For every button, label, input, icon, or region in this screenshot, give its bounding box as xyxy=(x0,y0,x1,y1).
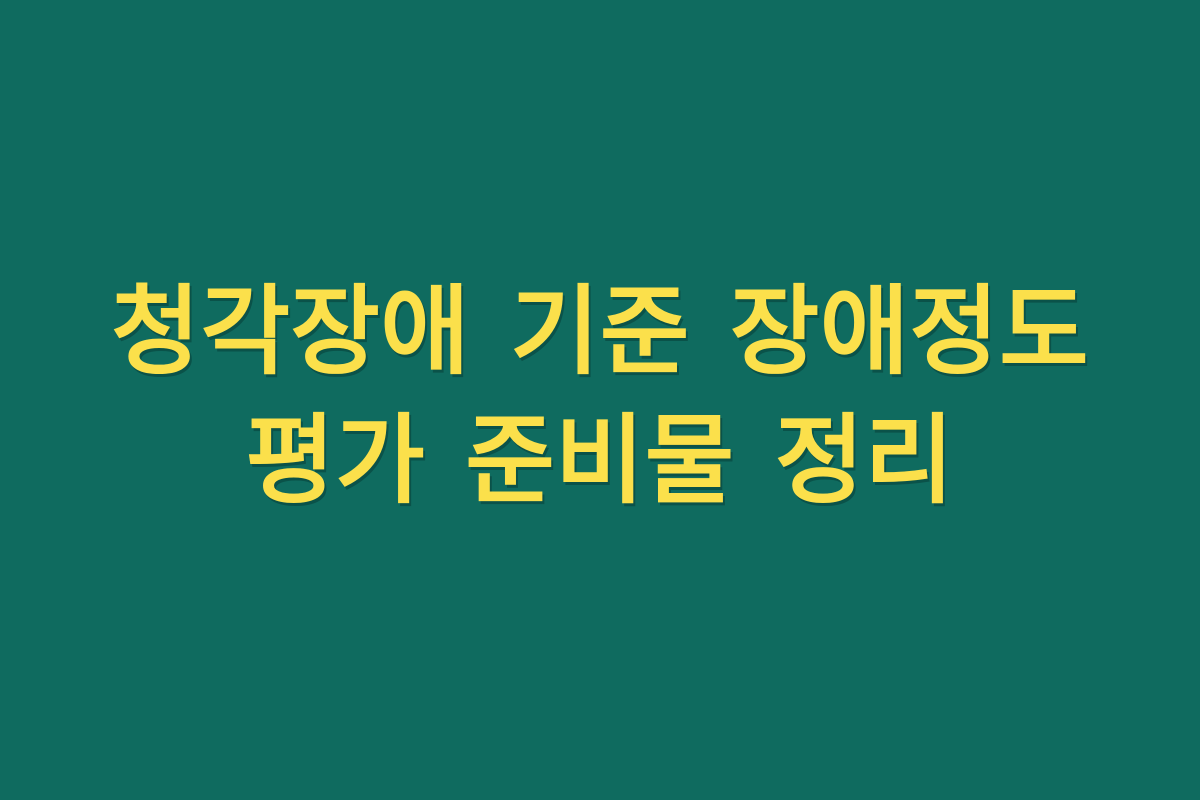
page-title: 청각장애 기준 장애정도 평가 준비물 정리 xyxy=(40,267,1160,525)
title-line-1: 청각장애 기준 장애정도 xyxy=(40,267,1160,396)
title-line-2: 평가 준비물 정리 xyxy=(40,396,1160,525)
thumbnail-canvas: 청각장애 기준 장애정도 평가 준비물 정리 xyxy=(0,0,1200,800)
